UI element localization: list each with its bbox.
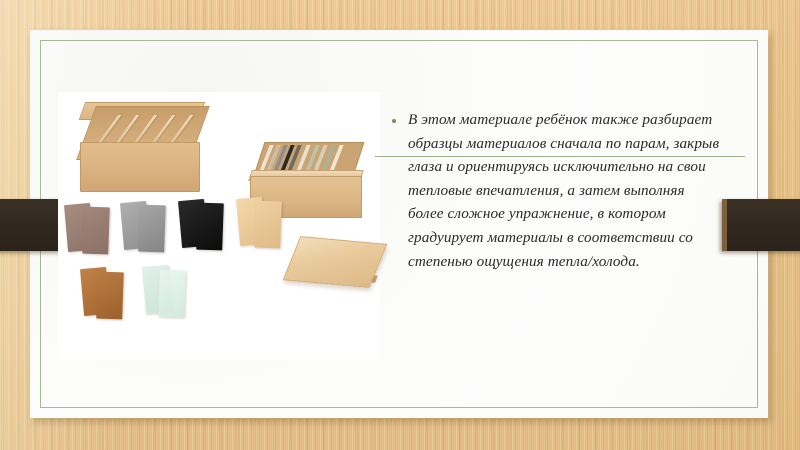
lid-surface (283, 236, 388, 288)
tablet (138, 205, 166, 253)
empty-divided-box (76, 100, 206, 196)
accent-bar-right-cap (722, 199, 727, 251)
bullet-text: В этом материале ребёнок также разбирает… (408, 108, 722, 273)
bullet-item: В этом материале ребёнок также разбирает… (392, 108, 722, 273)
bullet-dot-icon (392, 119, 396, 123)
accent-bar-right (722, 199, 800, 251)
slide: В этом материале ребёнок также разбирает… (0, 0, 800, 450)
tablet (254, 201, 282, 249)
text-column: В этом материале ребёнок также разбирает… (392, 108, 722, 273)
tablet (82, 207, 110, 255)
material-photo (58, 92, 380, 360)
wooden-lid-board (286, 238, 382, 290)
tablet (96, 272, 124, 320)
tablet (196, 203, 224, 251)
box-front-wall (80, 142, 200, 192)
tablet (158, 270, 186, 318)
